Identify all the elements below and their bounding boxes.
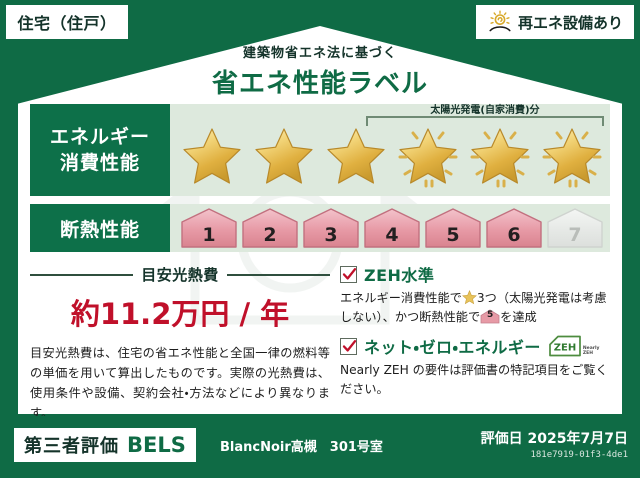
page-title: 省エネ性能ラベル <box>0 63 640 100</box>
insulation-house-number: 6 <box>485 224 543 246</box>
star-icon <box>462 290 477 305</box>
house-type-badge: 住宅（住戸） <box>6 5 128 39</box>
insulation-house-1: 1 <box>180 207 238 249</box>
zeh-standard-body: エネルギー消費性能で3つ（太陽光発電は考慮しない）、かつ断熱性能で5を達成 <box>340 289 610 327</box>
renewable-equipment-badge: 再エネ設備あり <box>476 5 634 39</box>
cost-value: 約11.2万円 / 年 <box>30 291 330 333</box>
solar-bracket-label: 太陽光発電(自家消費)分 <box>366 101 604 116</box>
insulation-performance-label: 断熱性能 <box>30 204 170 252</box>
insulation-performance-row: 断熱性能 1234567 <box>30 204 610 252</box>
star-1 <box>180 124 244 188</box>
insulation-house-number: 3 <box>302 224 360 246</box>
star-rating <box>180 118 604 194</box>
zeh-netzero-title: ネット・ゼロ・エネルギー <box>364 334 541 358</box>
energy-performance-label: エネルギー 消費性能 <box>30 104 170 196</box>
zeh-netzero-heading: ネット・ゼロ・エネルギー ZEH Nearly ZEH <box>340 334 610 358</box>
header: 建築物省エネ法に基づく 省エネ性能ラベル <box>0 42 640 100</box>
star-4 <box>396 124 460 188</box>
svg-text:ZEH: ZEH <box>554 343 576 354</box>
zeh-logo-sub-line2: ZEH <box>583 351 593 356</box>
evaluation-id: 181e7919-01f3-4de1 <box>481 450 628 460</box>
zeh-standard-title: ZEH水準 <box>364 262 434 286</box>
insulation-label-text: 断熱性能 <box>60 215 140 242</box>
star-sparkle <box>540 124 604 188</box>
insulation-house-3: 3 <box>302 207 360 249</box>
zeh-body-text-3: を達成 <box>500 310 537 324</box>
house-type-badge-label: 住宅（住戸） <box>17 10 116 34</box>
footer: 第三者評価 BELS BlancNoir高槻 301号室 評価日 2025年7月… <box>0 416 640 478</box>
house-icon: 5 <box>480 309 500 324</box>
zeh-standard-block: ZEH水準 エネルギー消費性能で3つ（太陽光発電は考慮しない）、かつ断熱性能で5… <box>340 262 610 327</box>
insulation-house-number: 1 <box>180 224 238 246</box>
energy-performance-label: 住宅（住戸） 再エネ設備あり 建築物省エネ法に基づく 省エネ性能 <box>0 0 640 478</box>
star-3 <box>324 124 388 188</box>
header-subtitle: 建築物省エネ法に基づく <box>0 42 640 61</box>
insulation-rating-panel: 1234567 <box>170 204 610 252</box>
star-5 <box>468 124 532 188</box>
star-sparkle <box>396 124 460 188</box>
renewable-badge-label: 再エネ設備あり <box>518 12 623 33</box>
zeh-logo: ZEH Nearly ZEH <box>548 334 600 358</box>
zeh-netzero-block: ネット・ゼロ・エネルギー ZEH Nearly ZEH Nearly ZEH の… <box>340 334 610 399</box>
house-rating-scale: 1234567 <box>180 207 604 249</box>
insulation-house-number: 2 <box>241 224 299 246</box>
evaluation-date: 評価日 2025年7月7日 <box>481 428 628 448</box>
insulation-house-number: 4 <box>363 224 421 246</box>
star-2 <box>252 124 316 188</box>
cost-column: 目安光熱費 約11.2万円 / 年 目安光熱費は、住宅の省エネ性能と全国一律の燃… <box>30 262 330 410</box>
energy-rating-panel: 太陽光発電(自家消費)分 <box>170 104 610 196</box>
zeh-netzero-checkbox <box>340 338 357 355</box>
zeh-standard-heading: ZEH水準 <box>340 262 610 286</box>
insulation-house-5: 5 <box>424 207 482 249</box>
energy-label-line1: エネルギー <box>50 124 150 150</box>
insulation-house-2: 2 <box>241 207 299 249</box>
zeh-logo-sub: Nearly ZEH <box>583 346 600 358</box>
zeh-standard-checkbox <box>340 266 357 283</box>
star-6 <box>540 124 604 188</box>
insulation-house-7: 7 <box>546 207 604 249</box>
star-sparkle <box>468 124 532 188</box>
zeh-netzero-body: Nearly ZEH の要件は評価書の特記項目をご覧ください。 <box>340 361 610 399</box>
cost-heading: 目安光熱費 <box>30 264 330 285</box>
insulation-house-number: 7 <box>546 224 604 246</box>
evaluation-info: 評価日 2025年7月7日 181e7919-01f3-4de1 <box>481 428 628 460</box>
bels-badge: 第三者評価 BELS <box>14 428 196 462</box>
sun-icon <box>487 10 513 34</box>
rule-right <box>227 274 330 276</box>
zeh-column: ZEH水準 エネルギー消費性能で3つ（太陽光発電は考慮しない）、かつ断熱性能で5… <box>340 262 610 410</box>
building-name: BlancNoir高槻 301号室 <box>220 436 383 455</box>
cost-note: 目安光熱費は、住宅の省エネ性能と全国一律の燃料等の単価を用いて算出したものです。… <box>30 343 330 423</box>
house-icon-number: 5 <box>480 306 500 325</box>
content-area: 目安光熱費 約11.2万円 / 年 目安光熱費は、住宅の省エネ性能と全国一律の燃… <box>30 262 610 410</box>
rule-left <box>30 274 133 276</box>
energy-performance-row: エネルギー 消費性能 太陽光発電(自家消費)分 <box>30 104 610 196</box>
zeh-body-text-1: エネルギー消費性能で <box>340 291 462 305</box>
insulation-house-number: 5 <box>424 224 482 246</box>
cost-heading-label: 目安光熱費 <box>141 264 219 285</box>
bels-mark: BELS <box>127 433 186 457</box>
third-party-eval-label: 第三者評価 <box>24 432 119 458</box>
energy-label-line2: 消費性能 <box>60 150 140 176</box>
insulation-house-4: 4 <box>363 207 421 249</box>
insulation-house-6: 6 <box>485 207 543 249</box>
